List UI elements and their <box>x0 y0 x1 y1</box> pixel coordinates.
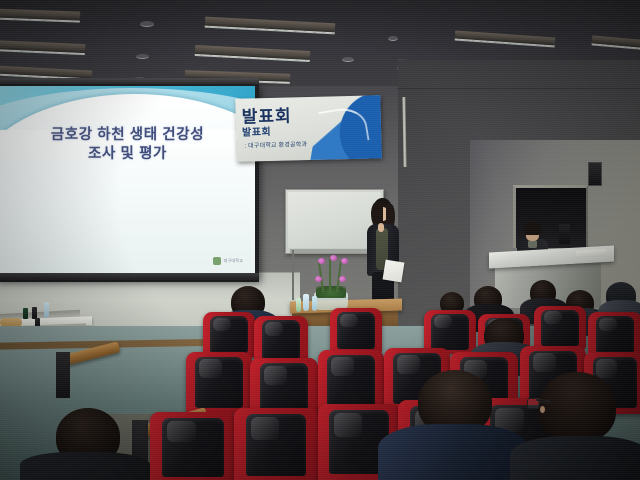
orchid-bloom <box>330 255 337 261</box>
ceiling-vent <box>140 21 154 27</box>
orchid-bloom <box>324 264 331 270</box>
slide-title: 금호강 하천 생태 건강성 조사 및 평가 <box>0 126 255 164</box>
presentation-photo: 금호강 하천 생태 건강성 조사 및 평가 대구대학교 발표회 발표회 : 대구… <box>0 0 640 480</box>
projector-screen-bottom-bar <box>0 273 259 282</box>
drink-can <box>23 308 28 319</box>
podium-person-hair <box>524 222 541 235</box>
seat <box>234 408 318 480</box>
orchid-bloom <box>315 276 322 282</box>
wall-speaker <box>559 224 570 244</box>
seat-highlight <box>340 314 358 328</box>
logo-text: 대구대학교 <box>224 258 243 264</box>
water-bottle <box>44 302 49 318</box>
orchid-bloom <box>327 274 334 280</box>
projected-slide: 금호강 하천 생태 건강성 조사 및 평가 대구대학교 <box>0 86 255 275</box>
water-bottle <box>296 298 301 312</box>
orchid-bloom <box>345 267 352 273</box>
ceiling-vent <box>342 57 354 62</box>
orchid-arrangement <box>300 252 360 312</box>
plant-foliage <box>316 286 346 298</box>
seat <box>318 350 384 412</box>
orchid-bloom <box>334 263 341 269</box>
seat-highlight <box>213 318 231 332</box>
slide-title-line-1: 금호강 하천 생태 건강성 <box>0 126 255 145</box>
banner-department: : 대구대학교 환경공학과 <box>244 139 307 150</box>
seat <box>150 412 236 480</box>
seat-highlight <box>397 355 419 374</box>
wall-speaker <box>588 162 602 186</box>
audience-shoulders <box>378 424 528 480</box>
slide-university-logo: 대구대학교 <box>213 257 243 265</box>
seat-highlight <box>434 315 452 328</box>
orchid-bloom <box>318 258 325 264</box>
seat-highlight <box>167 421 196 443</box>
presenter-papers <box>383 260 405 283</box>
seat-highlight <box>265 322 283 336</box>
projector-screen: 금호강 하천 생태 건강성 조사 및 평가 대구대학교 <box>0 84 259 280</box>
seat <box>534 306 586 350</box>
orchid-bloom <box>341 258 348 264</box>
armrest-post <box>56 352 70 398</box>
ceiling-vent <box>136 54 149 59</box>
wall-seam <box>398 88 640 89</box>
seat-highlight <box>596 359 617 378</box>
seat-highlight <box>533 353 555 372</box>
whiteboard-leg <box>292 250 294 300</box>
ceiling-vent <box>388 36 398 41</box>
podium-person-collar <box>528 240 537 248</box>
orchid-bloom <box>339 276 346 282</box>
audience-ear <box>540 406 545 413</box>
banner-subtitle: 발표회 <box>242 123 271 139</box>
audience-shoulders <box>20 452 150 480</box>
seat <box>330 308 382 354</box>
orchid-bloom <box>312 266 319 272</box>
event-banner: 발표회 발표회 : 대구대학교 환경공학과 <box>235 95 381 162</box>
seat-highlight <box>251 417 280 440</box>
seat-highlight <box>331 357 353 376</box>
water-bottle <box>303 294 309 311</box>
water-bottle <box>312 296 317 311</box>
audience-shoulders <box>510 436 640 480</box>
seat-highlight <box>264 366 287 385</box>
slide-title-line-2: 조사 및 평가 <box>0 145 255 164</box>
seat-highlight <box>334 413 362 436</box>
seat-highlight <box>599 318 617 332</box>
seat-highlight <box>544 311 562 324</box>
audience-head-with-glasses <box>538 372 616 442</box>
presenter-hand-microphone <box>378 223 384 232</box>
seat <box>254 316 308 364</box>
presenter <box>362 198 404 310</box>
logo-mark-icon <box>213 257 221 265</box>
seat <box>186 352 252 414</box>
seat-highlight <box>199 359 221 378</box>
